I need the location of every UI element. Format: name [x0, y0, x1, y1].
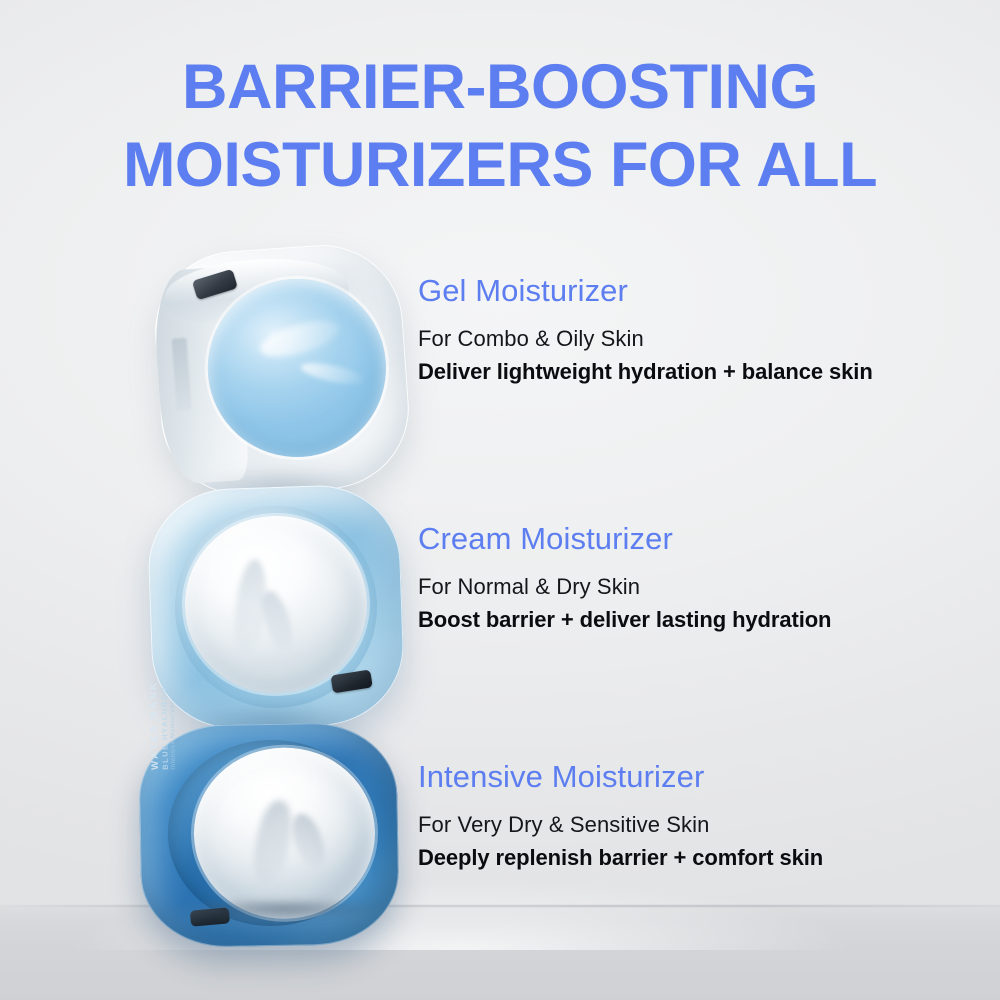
page-title: BARRIER-BOOSTING MOISTURIZERS FOR ALL: [0, 48, 1000, 204]
product-title-intensive: Intensive Moisturizer: [418, 758, 938, 796]
cream-swirl-right: [257, 588, 297, 656]
intensive-swirl-right: [287, 810, 332, 874]
gel-highlight-upper: [257, 314, 344, 364]
product-benefit-intensive: Deeply replenish barrier + comfort skin: [418, 843, 938, 873]
gel-jar: [150, 240, 414, 501]
product-skin-type-gel: For Combo & Oily Skin: [418, 324, 938, 354]
product-title-cream: Cream Moisturizer: [418, 520, 938, 558]
gel-highlight-lower: [300, 359, 366, 388]
product-skin-type-cream: For Normal & Dry Skin: [418, 572, 938, 602]
product-benefit-cream: Boost barrier + deliver lasting hydratio…: [418, 605, 938, 635]
jar-contact-shadow: [150, 896, 418, 922]
product-block-gel: Gel Moisturizer For Combo & Oily Skin De…: [418, 272, 938, 387]
promo-banner: BARRIER-BOOSTING MOISTURIZERS FOR ALL: [0, 0, 1000, 1000]
headline-line-1: BARRIER-BOOSTING: [0, 48, 1000, 126]
product-block-cream: Cream Moisturizer For Normal & Dry Skin …: [418, 520, 938, 635]
cream-jar: [146, 483, 406, 732]
product-benefit-gel: Deliver lightweight hydration + balance …: [418, 357, 938, 387]
product-title-gel: Gel Moisturizer: [418, 272, 938, 310]
intensive-swirl-left: [248, 797, 296, 887]
headline-line-2: MOISTURIZERS FOR ALL: [0, 126, 1000, 204]
product-block-intensive: Intensive Moisturizer For Very Dry & Sen…: [418, 758, 938, 873]
product-skin-type-intensive: For Very Dry & Sensitive Skin: [418, 810, 938, 840]
